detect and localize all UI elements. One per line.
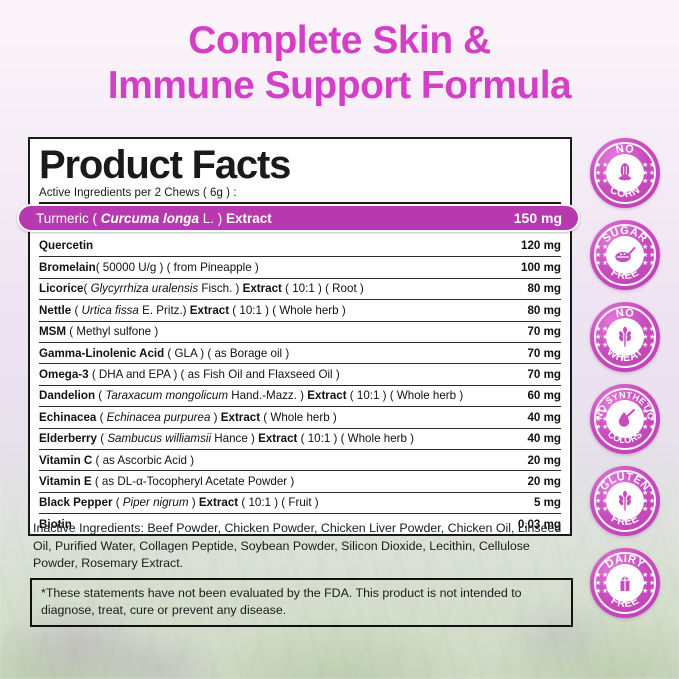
ingredient-name-bold: Gamma-Linolenic Acid xyxy=(39,347,164,360)
badge-stars-left: ★★★★★★ xyxy=(595,406,608,432)
ingredient-name-rest: ) xyxy=(210,411,220,424)
product-facts-heading: Product Facts xyxy=(39,143,561,187)
ingredient-extract-label: Extract xyxy=(243,282,282,295)
ingredient-amount: 120 mg xyxy=(513,239,561,252)
ingredient-name: Echinacea ( Echinacea purpurea ) Extract… xyxy=(39,411,337,424)
ingredient-row: MSM ( Methyl sulfone )70 mg xyxy=(39,321,561,342)
ingredient-extract-label: Extract xyxy=(307,389,346,402)
ingredient-amount: 80 mg xyxy=(519,304,561,317)
ingredient-name-rest: ( Whole herb ) xyxy=(260,411,337,424)
ingredient-amount: 5 mg xyxy=(526,496,561,509)
ingredient-name-rest: ( xyxy=(95,389,105,402)
hero-ingredient-amount: 150 mg xyxy=(514,210,562,226)
ingredient-amount: 20 mg xyxy=(519,475,561,488)
ingredient-amount: 60 mg xyxy=(519,389,561,402)
ingredient-name-bold: Quercetin xyxy=(39,239,93,252)
ingredient-name-rest: ( xyxy=(112,496,122,509)
ingredient-name: Dandelion ( Taraxacum mongolicum Hand.-M… xyxy=(39,389,463,402)
ingredient-amount: 40 mg xyxy=(519,432,561,445)
page-title-line2: Immune Support Formula xyxy=(0,63,679,108)
hero-ingredient-row: Turmeric ( Curcuma longa L. ) Extract 15… xyxy=(17,204,580,232)
ingredient-name: Omega-3 ( DHA and EPA ) ( as Fish Oil an… xyxy=(39,368,340,381)
ingredient-name: Nettle ( Urtica fissa E. Pritz.) Extract… xyxy=(39,304,346,317)
svg-text:FREE: FREE xyxy=(609,594,641,610)
certification-badge: NO SYNTHETICCOLORS★★★★★★★★★★★★ xyxy=(590,384,660,454)
ingredient-row: Omega-3 ( DHA and EPA ) ( as Fish Oil an… xyxy=(39,363,561,384)
ingredient-amount: 70 mg xyxy=(519,325,561,338)
ingredient-name-bold: Vitamin C xyxy=(39,454,92,467)
ingredient-name-rest: ( 10:1 ) ( Root ) xyxy=(282,282,364,295)
badge-stars-left: ★★★★★★ xyxy=(595,324,608,350)
ingredient-name-rest: ( 10:1 ) ( Whole herb ) xyxy=(297,432,414,445)
serving-size-line: Active Ingredients per 2 Chews ( 6g ) : xyxy=(39,187,561,202)
ingredient-name-rest: ( xyxy=(71,304,81,317)
ingredient-row: Dandelion ( Taraxacum mongolicum Hand.-M… xyxy=(39,385,561,406)
supplement-label-page: Complete Skin & Immune Support Formula P… xyxy=(0,0,679,679)
ingredient-extract-label: Extract xyxy=(199,496,238,509)
ingredient-name-bold: Dandelion xyxy=(39,389,95,402)
ingredient-name: Quercetin xyxy=(39,239,93,252)
ingredient-name-rest: Fisch. ) xyxy=(198,282,242,295)
page-title: Complete Skin & Immune Support Formula xyxy=(0,0,679,108)
ingredient-extract-label: Extract xyxy=(190,304,229,317)
badge-stars-left: ★★★★★★ xyxy=(595,160,608,186)
ingredient-name-rest: Hand.-Mazz. ) xyxy=(228,389,307,402)
ingredient-name: Bromelain( 50000 U/g ) ( from Pineapple … xyxy=(39,261,259,274)
ingredient-amount: 80 mg xyxy=(519,282,561,295)
ingredient-name-rest: ( DHA and EPA ) ( as Fish Oil and Flaxse… xyxy=(89,368,340,381)
ingredient-name-rest: ( xyxy=(97,432,107,445)
svg-text:NO: NO xyxy=(615,143,635,156)
ingredient-name-latin: Piper nigrum xyxy=(123,496,189,509)
page-title-line1: Complete Skin & xyxy=(0,18,679,63)
ingredient-name-latin: Urtica fissa xyxy=(82,304,139,317)
certification-badge: SUGARFREE★★★★★★★★★★★★ xyxy=(590,220,660,290)
ingredient-amount: 20 mg xyxy=(519,454,561,467)
ingredient-name-rest: ( GLA ) ( as Borage oil ) xyxy=(164,347,289,360)
svg-text:WHEAT: WHEAT xyxy=(604,346,645,364)
ingredient-name: Vitamin E ( as DL-α-Tocopheryl Acetate P… xyxy=(39,475,294,488)
svg-text:CORN: CORN xyxy=(608,184,643,201)
ingredient-row: Bromelain( 50000 U/g ) ( from Pineapple … xyxy=(39,256,561,277)
product-facts-panel: Product Facts Active Ingredients per 2 C… xyxy=(28,137,572,536)
ingredient-name-rest: ( 50000 U/g ) ( from Pineapple ) xyxy=(96,261,259,274)
badge-stars-right: ★★★★★★ xyxy=(642,406,655,432)
ingredient-row: Licorice( Glycyrrhiza uralensis Fisch. )… xyxy=(39,278,561,299)
hero-name-pre: Turmeric ( xyxy=(36,211,101,226)
ingredient-name-latin: Echinacea purpurea xyxy=(107,411,211,424)
badge-stars-right: ★★★★★★ xyxy=(642,242,655,268)
svg-text:NO: NO xyxy=(615,307,635,320)
ingredient-amount: 70 mg xyxy=(519,368,561,381)
hero-name-latin: Curcuma longa xyxy=(101,211,199,226)
ingredient-name-rest: ( as Ascorbic Acid ) xyxy=(92,454,194,467)
ingredient-name-rest: E. Pritz.) xyxy=(139,304,190,317)
ingredient-name: Gamma-Linolenic Acid ( GLA ) ( as Borage… xyxy=(39,347,289,360)
ingredient-name-rest: ( 10:1 ) ( Whole herb ) xyxy=(229,304,346,317)
hero-name-post: Extract xyxy=(226,211,272,226)
ingredient-row: Elderberry ( Sambucus williamsii Hance )… xyxy=(39,428,561,449)
badge-stars-right: ★★★★★★ xyxy=(642,488,655,514)
ingredient-name-bold: Elderberry xyxy=(39,432,97,445)
ingredient-name: MSM ( Methyl sulfone ) xyxy=(39,325,158,338)
ingredient-name-rest: ( 10:1 ) ( Fruit ) xyxy=(238,496,319,509)
certification-badge: NOCORN★★★★★★★★★★★★ xyxy=(590,138,660,208)
ingredient-name-bold: Vitamin E xyxy=(39,475,92,488)
ingredient-row: Vitamin E ( as DL-α-Tocopheryl Acetate P… xyxy=(39,470,561,491)
svg-text:FREE: FREE xyxy=(609,512,641,528)
ingredient-name: Vitamin C ( as Ascorbic Acid ) xyxy=(39,454,194,467)
badge-stars-right: ★★★★★★ xyxy=(642,570,655,596)
ingredient-name-latin: Sambucus williamsii xyxy=(107,432,211,445)
certification-badge: GLUTENFREE★★★★★★★★★★★★ xyxy=(590,466,660,536)
ingredient-extract-label: Extract xyxy=(258,432,297,445)
svg-text:COLORS: COLORS xyxy=(606,429,644,445)
ingredient-name: Elderberry ( Sambucus williamsii Hance )… xyxy=(39,432,414,445)
ingredient-name-rest: ) xyxy=(189,496,199,509)
ingredient-row: Nettle ( Urtica fissa E. Pritz.) Extract… xyxy=(39,299,561,320)
ingredient-name-rest: ( 10:1 ) ( Whole herb ) xyxy=(347,389,464,402)
ingredient-name-bold: Black Pepper xyxy=(39,496,112,509)
badge-stars-right: ★★★★★★ xyxy=(642,160,655,186)
ingredient-row: Echinacea ( Echinacea purpurea ) Extract… xyxy=(39,406,561,427)
svg-text:DAIRY: DAIRY xyxy=(603,553,646,571)
ingredient-amount: 70 mg xyxy=(519,347,561,360)
ingredient-name-rest: ( Methyl sulfone ) xyxy=(66,325,158,338)
ingredient-name: Black Pepper ( Piper nigrum ) Extract ( … xyxy=(39,496,319,509)
ingredient-name-rest: ( as DL-α-Tocopheryl Acetate Powder ) xyxy=(92,475,295,488)
ingredient-name-bold: Bromelain xyxy=(39,261,96,274)
ingredient-name-bold: Echinacea xyxy=(39,411,96,424)
badge-stars-left: ★★★★★★ xyxy=(595,242,608,268)
inactive-ingredients-text: Inactive Ingredients: Beef Powder, Chick… xyxy=(33,520,573,573)
badge-stars-right: ★★★★★★ xyxy=(642,324,655,350)
ingredient-name-rest: ( xyxy=(96,411,106,424)
hero-ingredient-name: Turmeric ( Curcuma longa L. ) Extract xyxy=(36,211,272,226)
ingredient-list: Quercetin120 mgBromelain( 50000 U/g ) ( … xyxy=(39,235,561,534)
ingredient-name-bold: MSM xyxy=(39,325,66,338)
ingredient-name-bold: Licorice xyxy=(39,282,83,295)
ingredient-extract-label: Extract xyxy=(221,411,260,424)
certification-badge: NOWHEAT★★★★★★★★★★★★ xyxy=(590,302,660,372)
certification-badge: DAIRYFREE★★★★★★★★★★★★ xyxy=(590,548,660,618)
fda-disclaimer-box: *These statements have not been evaluate… xyxy=(30,578,573,627)
ingredient-amount: 100 mg xyxy=(513,261,561,274)
ingredient-name-rest: Hance ) xyxy=(211,432,258,445)
ingredient-row: Gamma-Linolenic Acid ( GLA ) ( as Borage… xyxy=(39,342,561,363)
ingredient-row: Vitamin C ( as Ascorbic Acid )20 mg xyxy=(39,449,561,470)
certification-badge-column: NOCORN★★★★★★★★★★★★SUGARFREE★★★★★★★★★★★★N… xyxy=(589,138,661,618)
hero-name-mid: L. ) xyxy=(199,211,226,226)
ingredient-amount: 40 mg xyxy=(519,411,561,424)
ingredient-name: Licorice( Glycyrrhiza uralensis Fisch. )… xyxy=(39,282,364,295)
ingredient-name-bold: Nettle xyxy=(39,304,71,317)
ingredient-name-rest: ( xyxy=(83,282,90,295)
badge-stars-left: ★★★★★★ xyxy=(595,488,608,514)
ingredient-name-bold: Omega-3 xyxy=(39,368,89,381)
badge-stars-left: ★★★★★★ xyxy=(595,570,608,596)
ingredient-name-latin: Glycyrrhiza uralensis xyxy=(91,282,199,295)
ingredient-name-latin: Taraxacum mongolicum xyxy=(105,389,228,402)
svg-text:FREE: FREE xyxy=(609,266,641,282)
ingredient-row: Quercetin120 mg xyxy=(39,235,561,256)
ingredient-row: Black Pepper ( Piper nigrum ) Extract ( … xyxy=(39,492,561,513)
